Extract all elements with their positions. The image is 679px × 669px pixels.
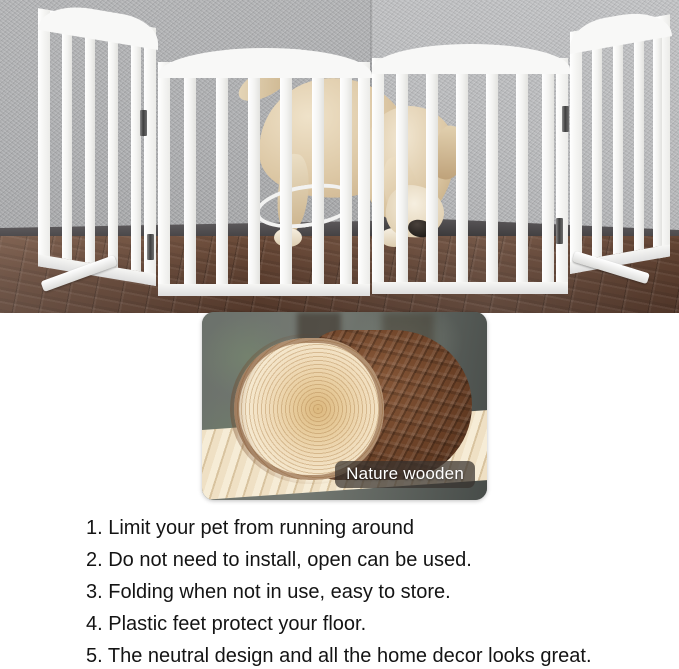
panel-2-slat bbox=[280, 76, 292, 284]
panel-2-slat bbox=[216, 76, 228, 284]
panel-3-slat bbox=[456, 72, 468, 282]
inset-photo-natural-wood: Nature wooden bbox=[202, 312, 487, 500]
feature-item-5: 5. The neutral design and all the home d… bbox=[86, 645, 592, 667]
panel-4-left-stile bbox=[570, 30, 582, 274]
panel-3-slat bbox=[486, 72, 498, 282]
panel-3-slat bbox=[396, 72, 408, 282]
hero-photo-pet-gate bbox=[0, 0, 679, 313]
panel-3-slat bbox=[542, 72, 554, 282]
feature-item-3: 3. Folding when not in use, easy to stor… bbox=[86, 581, 451, 603]
panel-2-bottom-rail bbox=[158, 284, 370, 296]
panel-2-slat bbox=[248, 76, 260, 284]
panel-2-left-stile bbox=[158, 62, 170, 296]
panel-1-slat bbox=[108, 34, 118, 268]
feature-item-4: 4. Plastic feet protect your floor. bbox=[86, 613, 366, 635]
panel-1-hinge-lower bbox=[147, 234, 154, 260]
product-feature-image: Nature wooden 1. Limit your pet from run… bbox=[0, 0, 679, 669]
gate-panel-2 bbox=[158, 62, 370, 296]
panel-1-hinge-upper bbox=[140, 110, 147, 136]
panel-2-slat bbox=[340, 76, 352, 284]
gate-panel-1 bbox=[38, 8, 156, 286]
panel-2-slat bbox=[184, 76, 196, 284]
panel-3-left-stile bbox=[372, 58, 384, 294]
panel-4-slat bbox=[653, 30, 662, 248]
panel-1-slat bbox=[62, 26, 72, 260]
gate-panel-4 bbox=[570, 14, 670, 274]
panel-1-slat bbox=[131, 38, 141, 272]
log bbox=[234, 330, 468, 482]
panel-3-slat bbox=[516, 72, 528, 282]
panel-3-hinge-upper bbox=[562, 106, 569, 132]
panel-4-slat bbox=[613, 37, 623, 255]
panel-1-slat bbox=[85, 30, 95, 264]
panel-4-slat bbox=[592, 40, 602, 258]
panel-3-slat bbox=[426, 72, 438, 282]
panel-2-slat bbox=[312, 76, 324, 284]
feature-item-1: 1. Limit your pet from running around bbox=[86, 517, 414, 539]
nature-wooden-badge: Nature wooden bbox=[335, 461, 475, 488]
panel-1-left-stile bbox=[38, 8, 50, 268]
panel-2-right-stile bbox=[358, 62, 370, 296]
feature-item-2: 2. Do not need to install, open can be u… bbox=[86, 549, 472, 571]
feature-list: 1. Limit your pet from running around 2.… bbox=[0, 505, 679, 669]
panel-3-bottom-rail bbox=[372, 282, 568, 294]
gate-panel-3 bbox=[372, 58, 568, 294]
panel-3-hinge-lower bbox=[556, 218, 563, 244]
panel-3-right-stile bbox=[556, 58, 568, 294]
panel-4-slat bbox=[634, 33, 644, 251]
